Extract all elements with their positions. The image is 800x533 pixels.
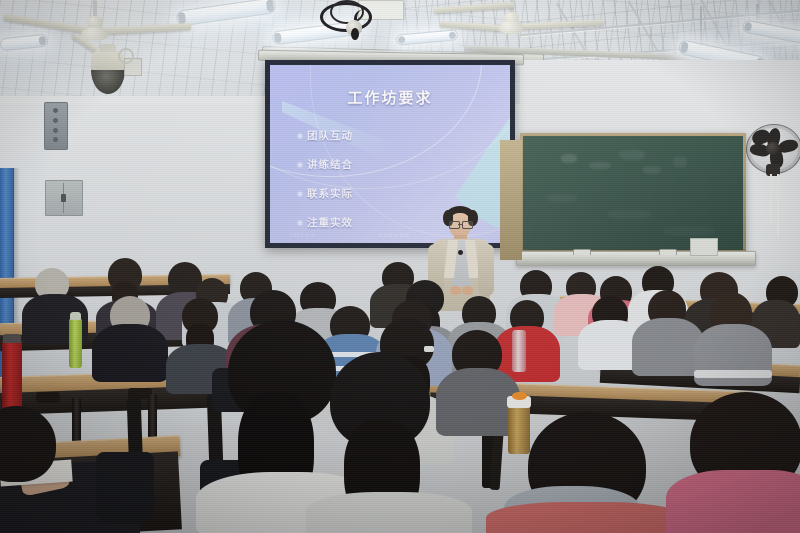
bullet-label: 注重实效 <box>307 215 353 230</box>
wall-fan-pull-cord <box>770 174 772 222</box>
bullet-label: 团队互动 <box>307 128 353 143</box>
ceiling-projector <box>318 0 404 42</box>
blackboard-surface <box>523 136 743 250</box>
presenter-glasses <box>462 221 473 229</box>
slide-footer-right: 华东师大 教授 <box>378 233 410 239</box>
panel-handle[interactable] <box>61 194 66 202</box>
desk-bracket <box>36 392 60 403</box>
bullet-dot-icon <box>298 163 302 167</box>
chalk-tray <box>516 251 756 266</box>
slide-title: 工作坊要求 <box>270 87 510 108</box>
audience-shirt-stripe <box>694 370 772 378</box>
presenter-microphone <box>458 250 463 255</box>
bullet-dot-icon <box>298 192 302 196</box>
wall-speaker <box>44 102 68 150</box>
foreground-body-center <box>306 492 472 533</box>
slide-bullet-4: 注重实效 <box>298 215 353 230</box>
orange-cap-bottle <box>508 404 530 454</box>
backpack <box>96 452 154 524</box>
foreground-body-right <box>486 502 686 533</box>
projector-lens <box>351 28 359 40</box>
hair-clip <box>424 346 434 352</box>
bullet-label: 联系实际 <box>307 186 353 201</box>
classroom-photo: 工作坊要求 团队互动 讲练结合 联系实际 注重实效 2017-4-8 华东师大 … <box>0 0 800 533</box>
wall-plate <box>690 238 718 256</box>
red-thermos <box>2 340 22 416</box>
dome-camera-bracket <box>100 44 116 52</box>
wall-fan-pull-cord <box>777 174 779 238</box>
electrical-panel[interactable] <box>45 180 83 216</box>
bullet-label: 讲练结合 <box>307 157 353 172</box>
presenter-glasses-bridge <box>458 224 462 225</box>
orange-cap-bottle-lid <box>512 392 527 400</box>
wall-fan <box>746 124 800 184</box>
slide-bullet-2: 讲练结合 <box>298 157 353 172</box>
blackboard <box>520 133 746 253</box>
green-water-bottle <box>69 318 82 368</box>
presenter-glasses <box>449 221 460 229</box>
dome-camera-conduit <box>118 48 134 64</box>
ceiling-fan-right <box>470 0 610 52</box>
slide-bullet-1: 团队互动 <box>298 128 353 143</box>
slide-bullet-3: 联系实际 <box>298 186 353 201</box>
bullet-dot-icon <box>298 134 302 138</box>
clear-water-bottle <box>512 330 526 372</box>
bullet-dot-icon <box>298 221 302 225</box>
slide-footer-left: 2017-4-8 <box>290 234 314 239</box>
presenter-hand-right <box>462 286 473 295</box>
foreground-body-far-right <box>666 470 800 533</box>
presenter-hand-left <box>450 286 461 295</box>
green-water-bottle-cap <box>70 312 81 320</box>
audience-body <box>92 324 168 382</box>
presenter-arm-right <box>478 244 494 296</box>
red-thermos-cap <box>3 334 21 343</box>
